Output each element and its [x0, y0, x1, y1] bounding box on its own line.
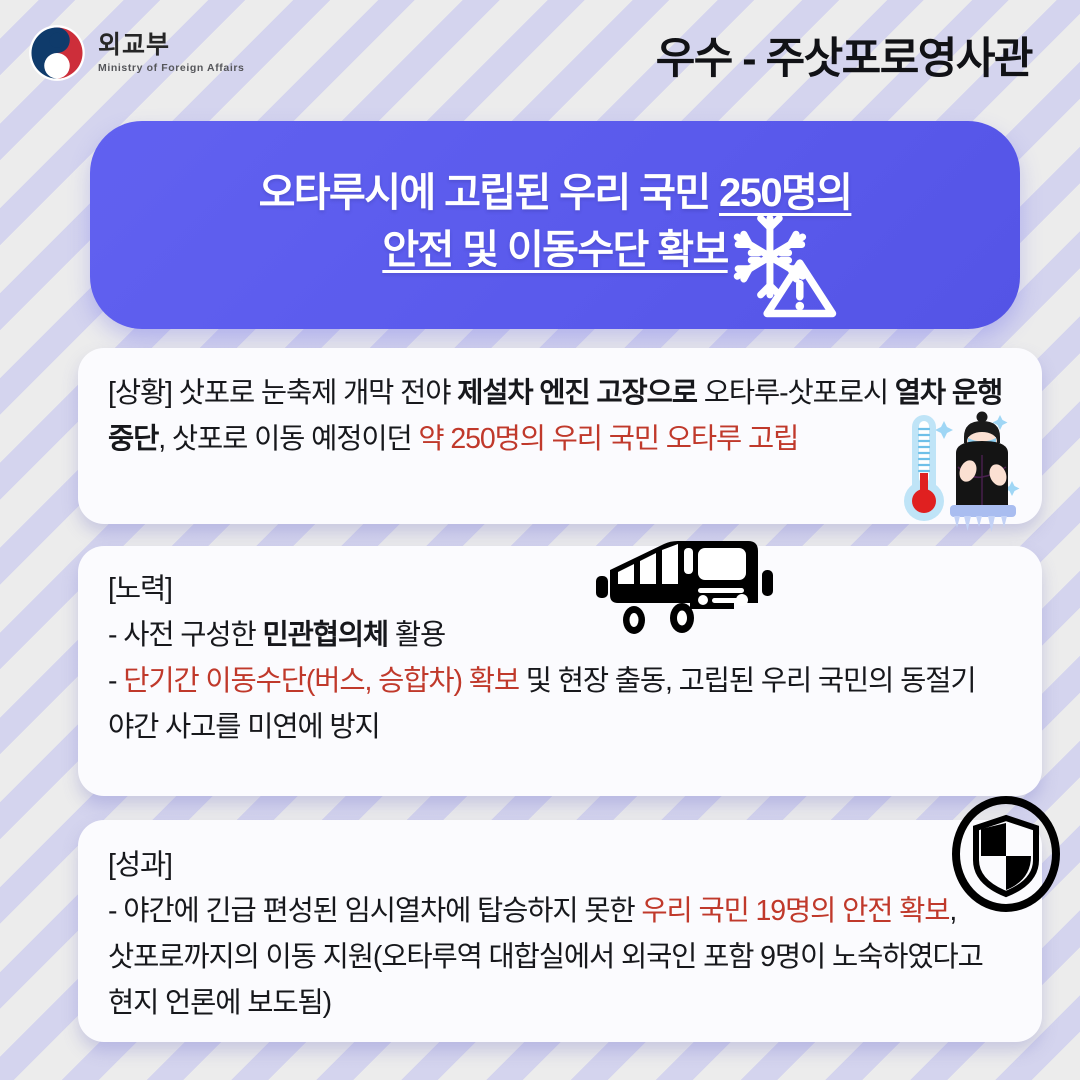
card-effort-b1a: - 사전 구성한 [108, 619, 262, 651]
infographic-root: 외교부 Ministry of Foreign Affairs 우수 - 주삿포… [0, 0, 1080, 1080]
ministry-name-ko: 외교부 [98, 33, 245, 58]
card-situation: [상황] 삿포로 눈축제 개막 전야 제설차 엔진 고장으로 오타루-삿포로시 … [78, 348, 1042, 524]
card-effort-label: [노력] [108, 566, 1012, 612]
card-situation-seg6-red: 약 250명의 우리 국민 오타루 고립 [418, 423, 798, 455]
ministry-logo: 외교부 Ministry of Foreign Affairs [28, 24, 245, 82]
taegeuk-logo-icon [28, 24, 86, 82]
card-effort: [노력] - 사전 구성한 민관협의체 활용 - 단기간 이동수단(버스, 승합… [78, 546, 1042, 796]
snowflake-icon [737, 218, 802, 295]
banner-line1-plain: 오타루시에 고립된 우리 국민 [259, 171, 719, 215]
card-situation-seg1: 삿포로 눈축제 개막 전야 [172, 377, 457, 409]
card-situation-seg3: 오타루-삿포로시 [697, 377, 895, 409]
ice-block-icon [950, 505, 1016, 532]
snowflake-warning-group [724, 209, 842, 321]
card-situation-seg5: , 삿포로 이동 예정이던 [158, 423, 418, 455]
card-effort-bullet-1: - 사전 구성한 민관협의체 활용 [108, 612, 1012, 658]
card-effort-b1-bold: 민관협의체 [262, 619, 388, 651]
shield-icon [948, 796, 1064, 912]
page-title: 우수 - 주삿포로영사관 [656, 24, 1032, 86]
card-effort-b1b: 활용 [388, 619, 445, 651]
bus-icon [594, 528, 776, 638]
card-effort-text: [노력] - 사전 구성한 민관협의체 활용 - 단기간 이동수단(버스, 승합… [78, 546, 1042, 771]
card-situation-label: [상황] [108, 377, 172, 409]
ministry-name-en: Ministry of Foreign Affairs [98, 63, 245, 74]
card-situation-text: [상황] 삿포로 눈축제 개막 전야 제설차 엔진 고장으로 오타루-삿포로시 … [78, 348, 1042, 482]
card-result-seg2-red: 우리 국민 19명의 안전 확보 [641, 895, 949, 927]
banner-line2-underline: 안전 및 이동수단 확보 [382, 228, 727, 272]
card-effort-b2-red: 단기간 이동수단(버스, 승합차) 확보 [123, 665, 519, 697]
page-header: 외교부 Ministry of Foreign Affairs 우수 - 주삿포… [0, 0, 1080, 110]
card-result: [성과] - 야간에 긴급 편성된 임시열차에 탑승하지 못한 우리 국민 19… [78, 820, 1042, 1042]
banner-title-text: 오타루시에 고립된 우리 국민 250명의 안전 및 이동수단 확보 [90, 165, 1020, 279]
card-result-text: [성과] - 야간에 긴급 편성된 임시열차에 탑승하지 못한 우리 국민 19… [78, 820, 1042, 1047]
title-banner: 오타루시에 고립된 우리 국민 250명의 안전 및 이동수단 확보 [90, 121, 1020, 329]
card-result-seg1: - 야간에 긴급 편성된 임시열차에 탑승하지 못한 [108, 895, 641, 927]
card-effort-bullet-2: - 단기간 이동수단(버스, 승합차) 확보 및 현장 출동, 고립된 우리 국… [108, 665, 975, 743]
card-effort-b2-dash: - [108, 665, 123, 697]
card-situation-seg2-bold: 제설차 엔진 고장으로 [457, 377, 697, 409]
card-result-label: [성과] [108, 842, 1012, 888]
